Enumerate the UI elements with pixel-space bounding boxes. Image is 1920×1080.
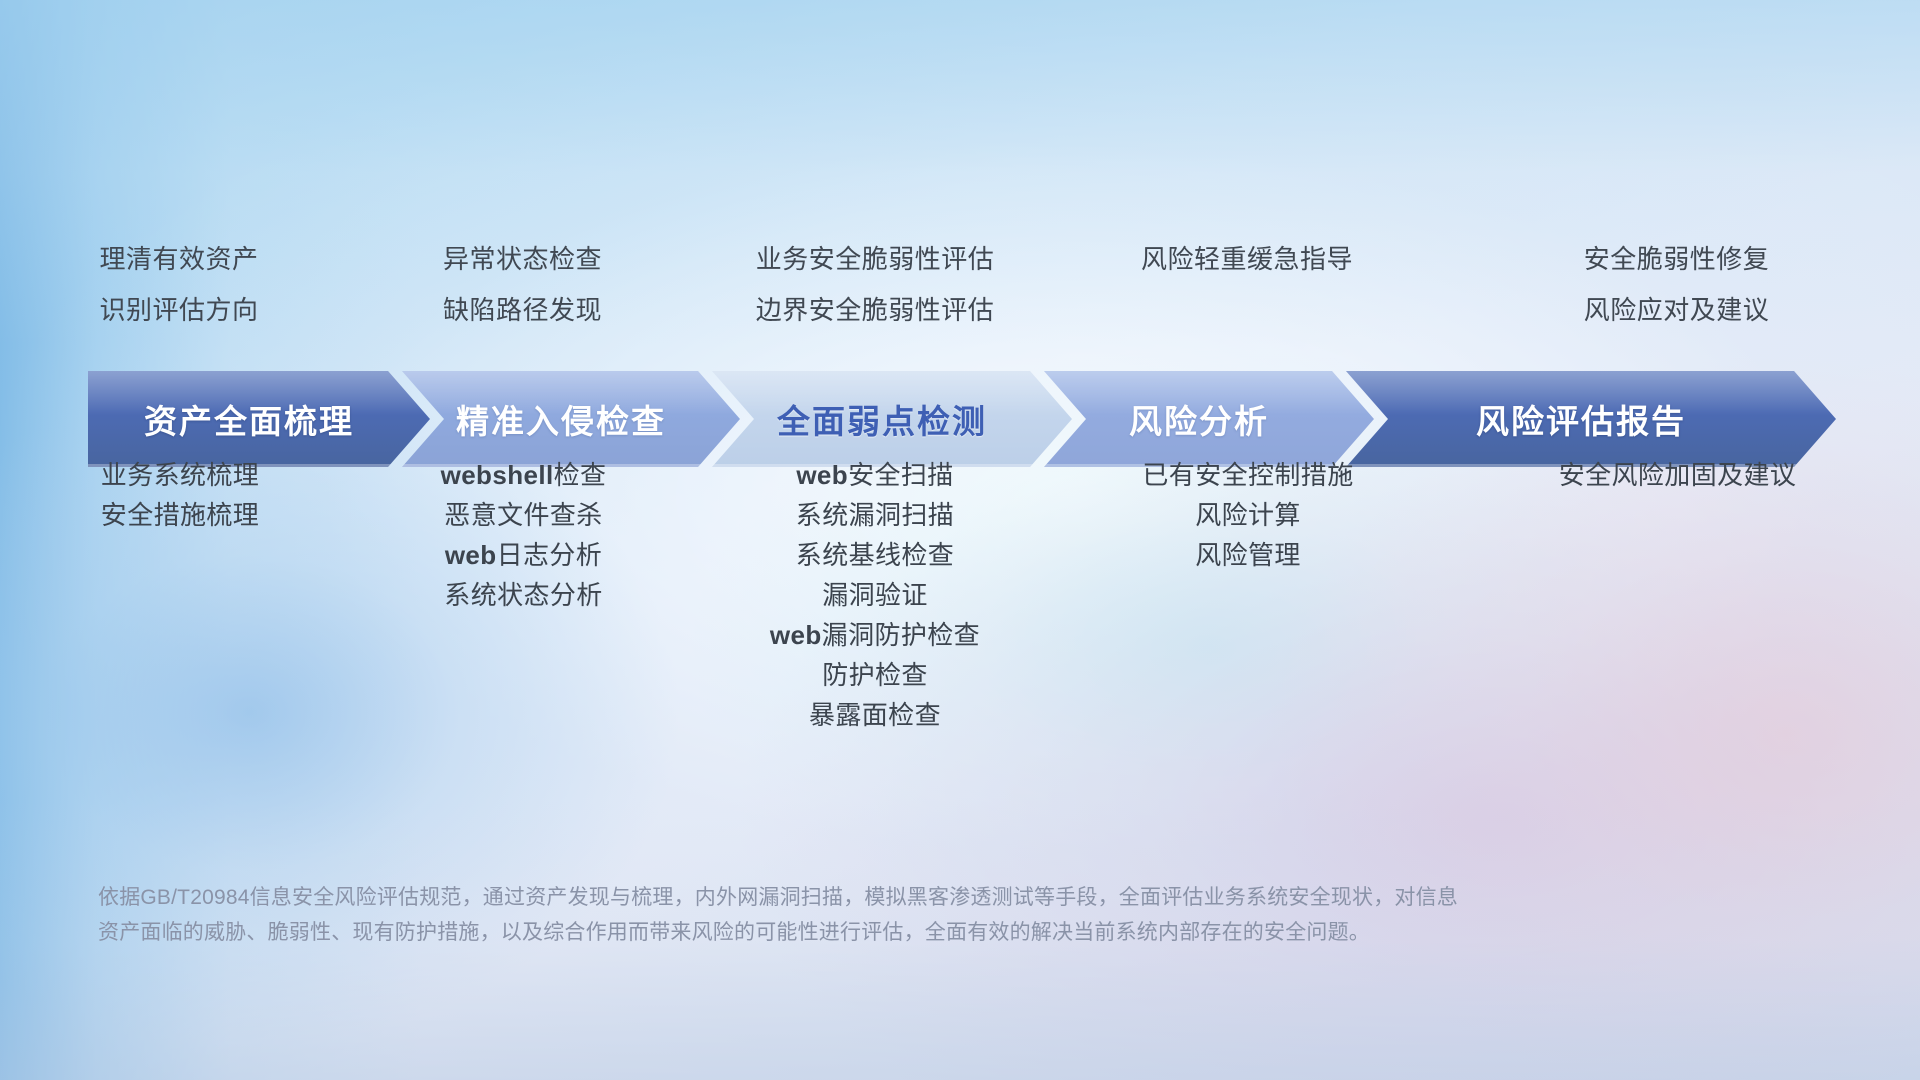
process-stage-weakness-detection[interactable]: 全面弱点检测 xyxy=(712,371,1072,467)
task-label: 系统基线检查 xyxy=(796,535,954,575)
outcome-label: 识别评估方向 xyxy=(99,285,258,336)
task-keyword: web xyxy=(445,540,497,570)
task-label: 风险管理 xyxy=(1195,535,1301,575)
outcome-label: 缺陷路径发现 xyxy=(443,285,602,336)
stage-outcomes-weakness-detection: 业务安全脆弱性评估 边界安全脆弱性评估 xyxy=(694,234,1056,336)
stage-title: 风险评估报告 xyxy=(1476,395,1686,443)
description-line-1: 依据GB/T20984信息安全风险评估规范，通过资产发现与梳理，内外网漏洞扫描，… xyxy=(98,880,1638,915)
stage-tasks-risk-report: 安全风险加固及建议 xyxy=(1430,455,1920,735)
stage-tasks-asset-inventory: 业务系统梳理安全措施梳理 xyxy=(0,455,366,735)
outcome-label: 业务安全脆弱性评估 xyxy=(756,234,995,285)
outcome-label: 安全脆弱性修复 xyxy=(1584,234,1770,285)
task-label: 暴露面检查 xyxy=(809,695,941,735)
stage-tasks-row: 业务系统梳理安全措施梳理 webshell检查恶意文件查杀web日志分析系统状态… xyxy=(0,455,1920,735)
task-label: 业务系统梳理 xyxy=(101,455,259,495)
stage-outcomes-row: 理清有效资产 识别评估方向 异常状态检查 缺陷路径发现 业务安全脆弱性评估 边界… xyxy=(0,234,1920,336)
stage-title: 全面弱点检测 xyxy=(777,395,987,443)
description-line-2: 资产面临的威胁、脆弱性、现有防护措施，以及综合作用而带来风险的可能性进行评估，全… xyxy=(98,915,1638,950)
task-label: 恶意文件查杀 xyxy=(444,495,602,535)
process-stage-risk-analysis[interactable]: 风险分析 xyxy=(1044,371,1374,467)
stage-title: 资产全面梳理 xyxy=(144,395,354,443)
task-label: 系统漏洞扫描 xyxy=(796,495,954,535)
task-label: 安全风险加固及建议 xyxy=(1559,455,1797,495)
slide-canvas: 理清有效资产 识别评估方向 异常状态检查 缺陷路径发现 业务安全脆弱性评估 边界… xyxy=(0,0,1920,1080)
outcome-label: 边界安全脆弱性评估 xyxy=(756,285,995,336)
task-keyword: webshell xyxy=(441,460,554,490)
outcome-label: 异常状态检查 xyxy=(443,234,602,285)
task-keyword: web xyxy=(770,620,822,650)
process-chevron-band: 资产全面梳理 精准入侵检查 全面弱点检测 风险分析 风险评估报告 xyxy=(88,371,1836,467)
process-stage-intrusion-check[interactable]: 精准入侵检查 xyxy=(402,371,740,467)
stage-tasks-risk-analysis: 已有安全控制措施风险计算风险管理 xyxy=(1069,455,1427,735)
task-label: web漏洞防护检查 xyxy=(770,615,980,655)
task-label: 防护检查 xyxy=(822,655,928,695)
task-label: 系统状态分析 xyxy=(444,575,602,615)
task-label: 漏洞验证 xyxy=(822,575,928,615)
task-label: web日志分析 xyxy=(445,535,602,575)
stage-title: 精准入侵检查 xyxy=(456,395,666,443)
task-label: 已有安全控制措施 xyxy=(1142,455,1353,495)
task-label: webshell检查 xyxy=(441,455,607,495)
task-label: 风险计算 xyxy=(1195,495,1301,535)
task-label: 安全措施梳理 xyxy=(101,495,259,535)
process-stage-risk-report[interactable]: 风险评估报告 xyxy=(1346,371,1836,467)
stage-outcomes-risk-analysis: 风险轻重缓急指导 xyxy=(1068,234,1426,336)
stage-outcomes-risk-report: 安全脆弱性修复 风险应对及建议 xyxy=(1429,234,1920,336)
stage-title: 风险分析 xyxy=(1129,395,1269,443)
outcome-label: 理清有效资产 xyxy=(99,234,258,285)
stage-tasks-intrusion-check: webshell检查恶意文件查杀web日志分析系统状态分析 xyxy=(357,455,690,735)
process-stage-asset-inventory[interactable]: 资产全面梳理 xyxy=(88,371,430,467)
stage-tasks-weakness-detection: web安全扫描系统漏洞扫描系统基线检查漏洞验证web漏洞防护检查防护检查暴露面检… xyxy=(694,455,1056,735)
outcome-label: 风险轻重缓急指导 xyxy=(1141,234,1353,285)
outcome-label: 风险应对及建议 xyxy=(1584,285,1770,336)
task-keyword: web xyxy=(796,460,848,490)
stage-outcomes-intrusion-check: 异常状态检查 缺陷路径发现 xyxy=(356,234,689,336)
stage-outcomes-asset-inventory: 理清有效资产 识别评估方向 xyxy=(0,234,365,336)
description-paragraph: 依据GB/T20984信息安全风险评估规范，通过资产发现与梳理，内外网漏洞扫描，… xyxy=(98,880,1638,950)
task-label: web安全扫描 xyxy=(796,455,953,495)
